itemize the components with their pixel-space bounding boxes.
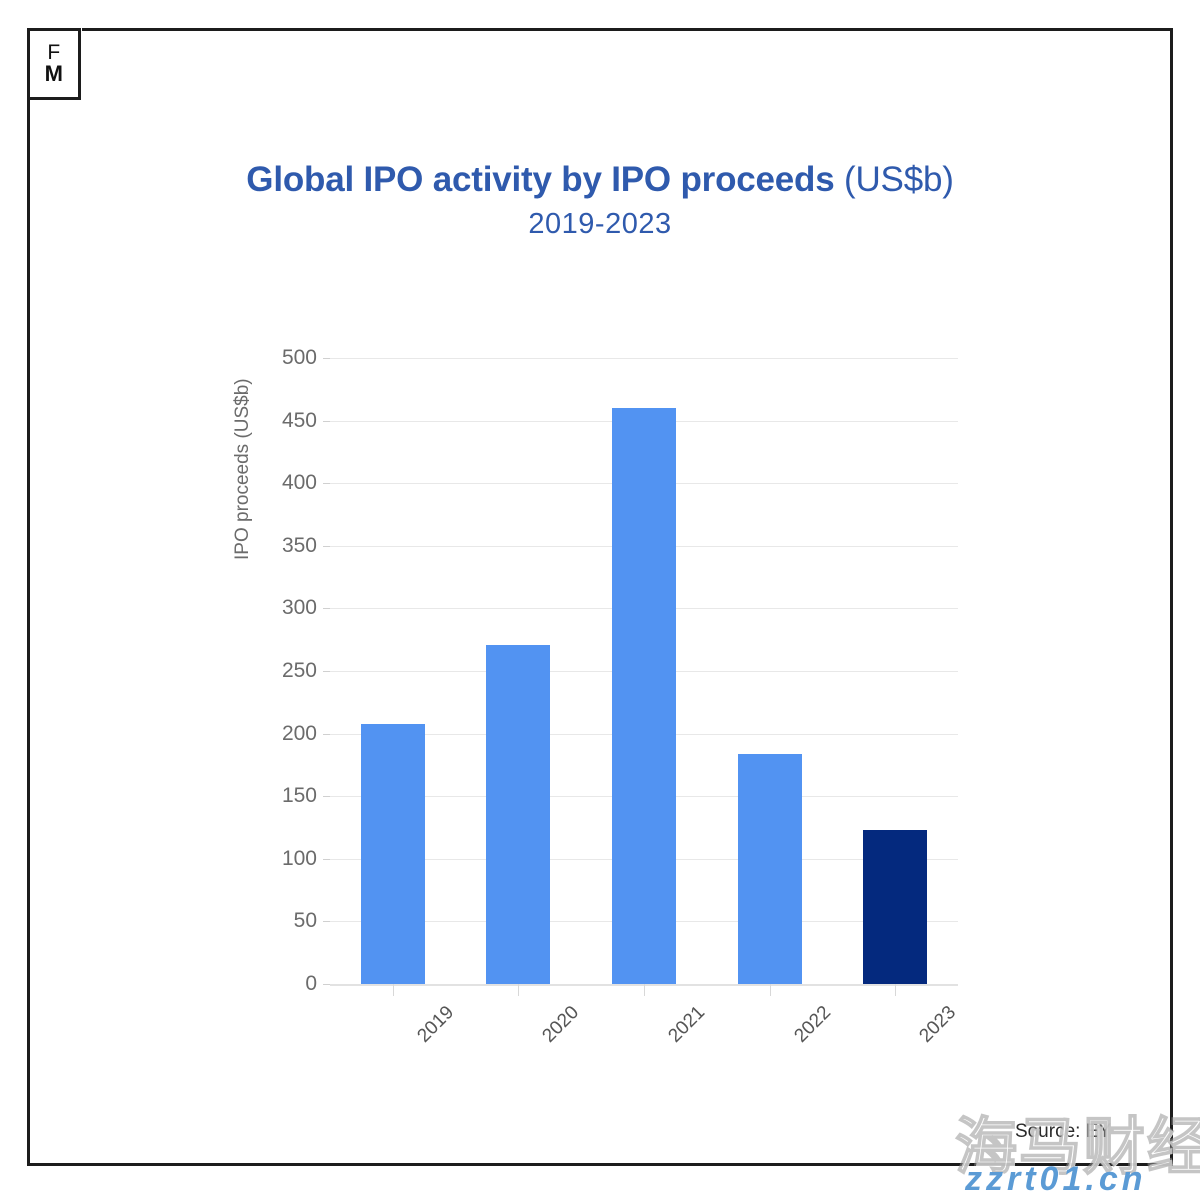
- bar-2019[interactable]: [361, 724, 425, 984]
- y-axis-tick: [323, 671, 330, 672]
- y-axis-tick-label: 500: [282, 346, 317, 370]
- y-axis-tick-label: 400: [282, 471, 317, 495]
- y-axis-tick-label: 150: [282, 784, 317, 808]
- y-axis-tick: [323, 483, 330, 484]
- bar-2023[interactable]: [863, 830, 927, 984]
- y-axis-tick-label: 0: [305, 972, 317, 996]
- y-axis-tick-label: 50: [294, 909, 317, 933]
- x-axis-tick: [644, 984, 645, 996]
- y-axis-tick-label: 300: [282, 596, 317, 620]
- chart-title: Global IPO activity by IPO proceeds (US$…: [0, 160, 1200, 200]
- y-axis-tick: [323, 608, 330, 609]
- fm-logo: F M: [27, 28, 81, 100]
- chart-title-bold: Global IPO activity by IPO proceeds: [246, 160, 834, 199]
- y-axis-tick: [323, 734, 330, 735]
- y-axis-tick: [323, 421, 330, 422]
- y-axis-tick-label: 100: [282, 847, 317, 871]
- x-axis-tick: [770, 984, 771, 996]
- logo-letter-m: M: [45, 63, 64, 85]
- y-axis-title: IPO proceeds (US$b): [232, 378, 254, 560]
- x-axis-tick: [518, 984, 519, 996]
- y-axis-tick: [323, 546, 330, 547]
- chart-subtitle: 2019-2023: [0, 208, 1200, 241]
- chart-title-block: Global IPO activity by IPO proceeds (US$…: [0, 160, 1200, 241]
- gridline: [330, 358, 958, 359]
- y-axis-tick: [323, 984, 330, 985]
- y-axis-tick-label: 350: [282, 534, 317, 558]
- logo-letter-f: F: [47, 42, 60, 63]
- y-axis-tick-label: 450: [282, 409, 317, 433]
- y-axis-tick: [323, 358, 330, 359]
- source-note: Source: EY: [1015, 1121, 1111, 1143]
- bar-2022[interactable]: [738, 754, 802, 984]
- y-axis-tick: [323, 796, 330, 797]
- x-axis-tick: [895, 984, 896, 996]
- bar-2020[interactable]: [486, 645, 550, 984]
- chart-plot-area: 050100150200250300350400450500 201920202…: [330, 358, 958, 984]
- chart-title-unit: (US$b): [835, 160, 954, 199]
- y-axis-tick-label: 250: [282, 659, 317, 683]
- y-axis-tick-label: 200: [282, 722, 317, 746]
- y-axis-tick: [323, 859, 330, 860]
- bar-2021[interactable]: [612, 408, 676, 984]
- x-axis-tick: [393, 984, 394, 996]
- y-axis-tick: [323, 921, 330, 922]
